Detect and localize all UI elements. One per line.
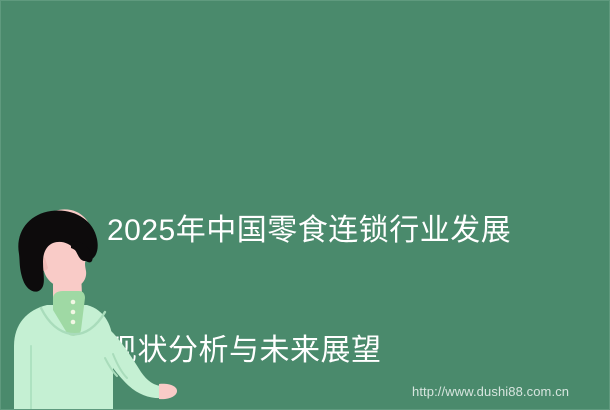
collar-button-1	[71, 300, 76, 305]
hand-shape	[159, 384, 177, 399]
person-profile-illustration	[1, 206, 201, 410]
collar-button-3	[71, 320, 76, 325]
collar-button-2	[71, 310, 76, 315]
watermark-url: http://www.dushi88.com.cn	[412, 384, 569, 400]
promo-banner: 2025年中国零食连锁行业发展 现状分析与未来展望	[0, 0, 610, 410]
